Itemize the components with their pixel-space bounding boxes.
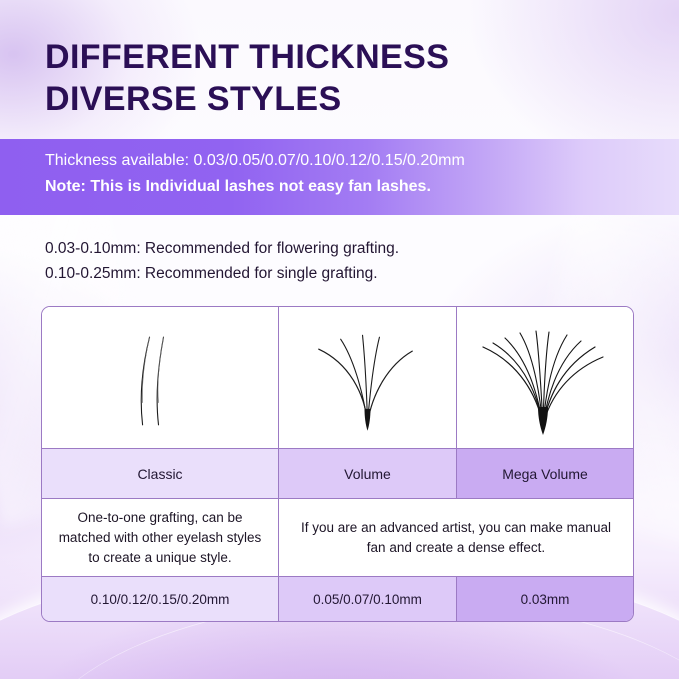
size-cell-volume: 0.05/0.07/0.10mm [279,577,457,621]
size-classic: 0.10/0.12/0.15/0.20mm [91,592,230,607]
description-classic: One-to-one grafting, can be matched with… [42,508,278,568]
table-row-illustrations [42,307,633,449]
label-cell-classic: Classic [42,449,279,499]
label-mega-volume: Mega Volume [502,466,588,482]
size-mega-volume: 0.03mm [521,592,570,607]
volume-fan-illustration [279,307,457,449]
table-row-descriptions: One-to-one grafting, can be matched with… [42,499,633,577]
product-note-text: Note: This is Individual lashes not easy… [45,174,679,200]
size-cell-mega-volume: 0.03mm [457,577,633,621]
classic-lash-illustration [42,307,279,449]
lash-style-comparison-table: Classic Volume Mega Volume One-to-one gr… [41,306,634,622]
label-cell-volume: Volume [279,449,457,499]
description-cell-classic: One-to-one grafting, can be matched with… [42,499,279,577]
thickness-banner: Thickness available: 0.03/0.05/0.07/0.10… [0,139,679,215]
recommendation-list: 0.03-0.10mm: Recommended for flowering g… [45,236,645,286]
size-volume: 0.05/0.07/0.10mm [313,592,422,607]
label-volume: Volume [344,466,391,482]
volume-fan-icon [279,307,456,448]
size-cell-classic: 0.10/0.12/0.15/0.20mm [42,577,279,621]
recommendation-single: 0.10-0.25mm: Recommended for single graf… [45,261,645,286]
label-cell-mega-volume: Mega Volume [457,449,633,499]
thickness-available-text: Thickness available: 0.03/0.05/0.07/0.10… [45,148,679,174]
mega-volume-fan-icon [457,307,633,448]
page-title: DIFFERENT THICKNESS DIVERSE STYLES [45,36,645,120]
description-cell-volume-mega: If you are an advanced artist, you can m… [279,499,633,577]
product-infographic: DIFFERENT THICKNESS DIVERSE STYLES Thick… [0,0,679,679]
table-row-labels: Classic Volume Mega Volume [42,449,633,499]
description-volume-mega: If you are an advanced artist, you can m… [279,518,633,558]
recommendation-flowering: 0.03-0.10mm: Recommended for flowering g… [45,236,645,261]
table-row-sizes: 0.10/0.12/0.15/0.20mm 0.05/0.07/0.10mm 0… [42,577,633,621]
label-classic: Classic [137,466,182,482]
mega-volume-fan-illustration [457,307,633,449]
classic-lash-icon [42,307,278,448]
